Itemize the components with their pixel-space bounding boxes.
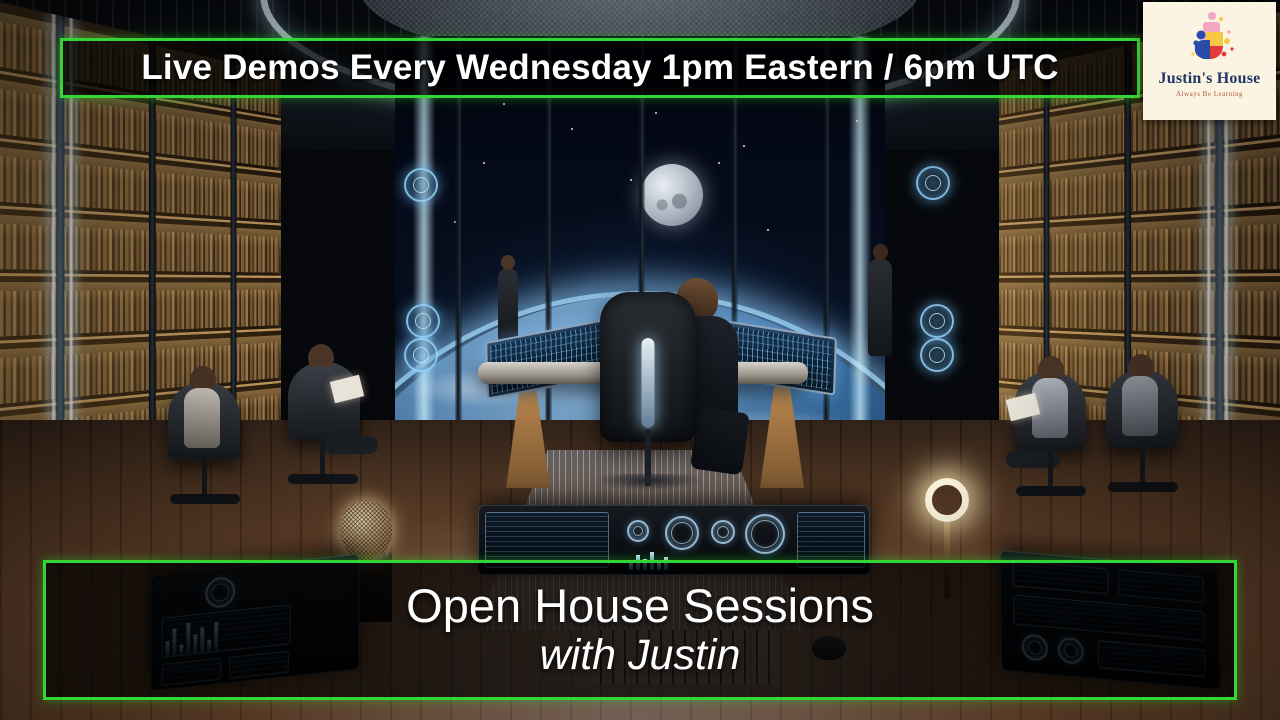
hud-disc-icon: [404, 338, 438, 372]
hud-disc-icon: [920, 338, 954, 372]
top-banner: Live Demos Every Wednesday 1pm Eastern /…: [60, 38, 1140, 98]
glass-pillar: [413, 36, 435, 456]
hud-disc-icon: [916, 166, 950, 200]
hud-disc-icon: [920, 304, 954, 338]
office-chair: [600, 292, 696, 442]
hud-disc-icon: [404, 168, 438, 202]
video-title: Open House Sessions: [406, 581, 874, 631]
logo-tagline: Always Be Learning: [1176, 90, 1243, 98]
ring-light: [925, 478, 969, 522]
microphone: [340, 500, 392, 560]
brand-logo-card: Justin's House Always Be Learning: [1143, 2, 1276, 120]
glass-pillar: [849, 36, 871, 456]
justins-house-logo-mark-icon: [1182, 10, 1238, 68]
window-mullion: [455, 36, 462, 456]
hud-disc-icon: [406, 304, 440, 338]
video-thumbnail: Live Demos Every Wednesday 1pm Eastern /…: [0, 0, 1280, 720]
logo-brand-name: Justin's House: [1159, 70, 1261, 88]
chair-base: [596, 474, 702, 490]
bottom-banner: Open House Sessions with Justin: [43, 560, 1237, 700]
window-mullion: [545, 36, 552, 456]
top-banner-text: Live Demos Every Wednesday 1pm Eastern /…: [141, 48, 1058, 88]
video-subtitle: with Justin: [540, 633, 741, 679]
moon: [641, 164, 703, 226]
standing-figure: [868, 258, 892, 356]
